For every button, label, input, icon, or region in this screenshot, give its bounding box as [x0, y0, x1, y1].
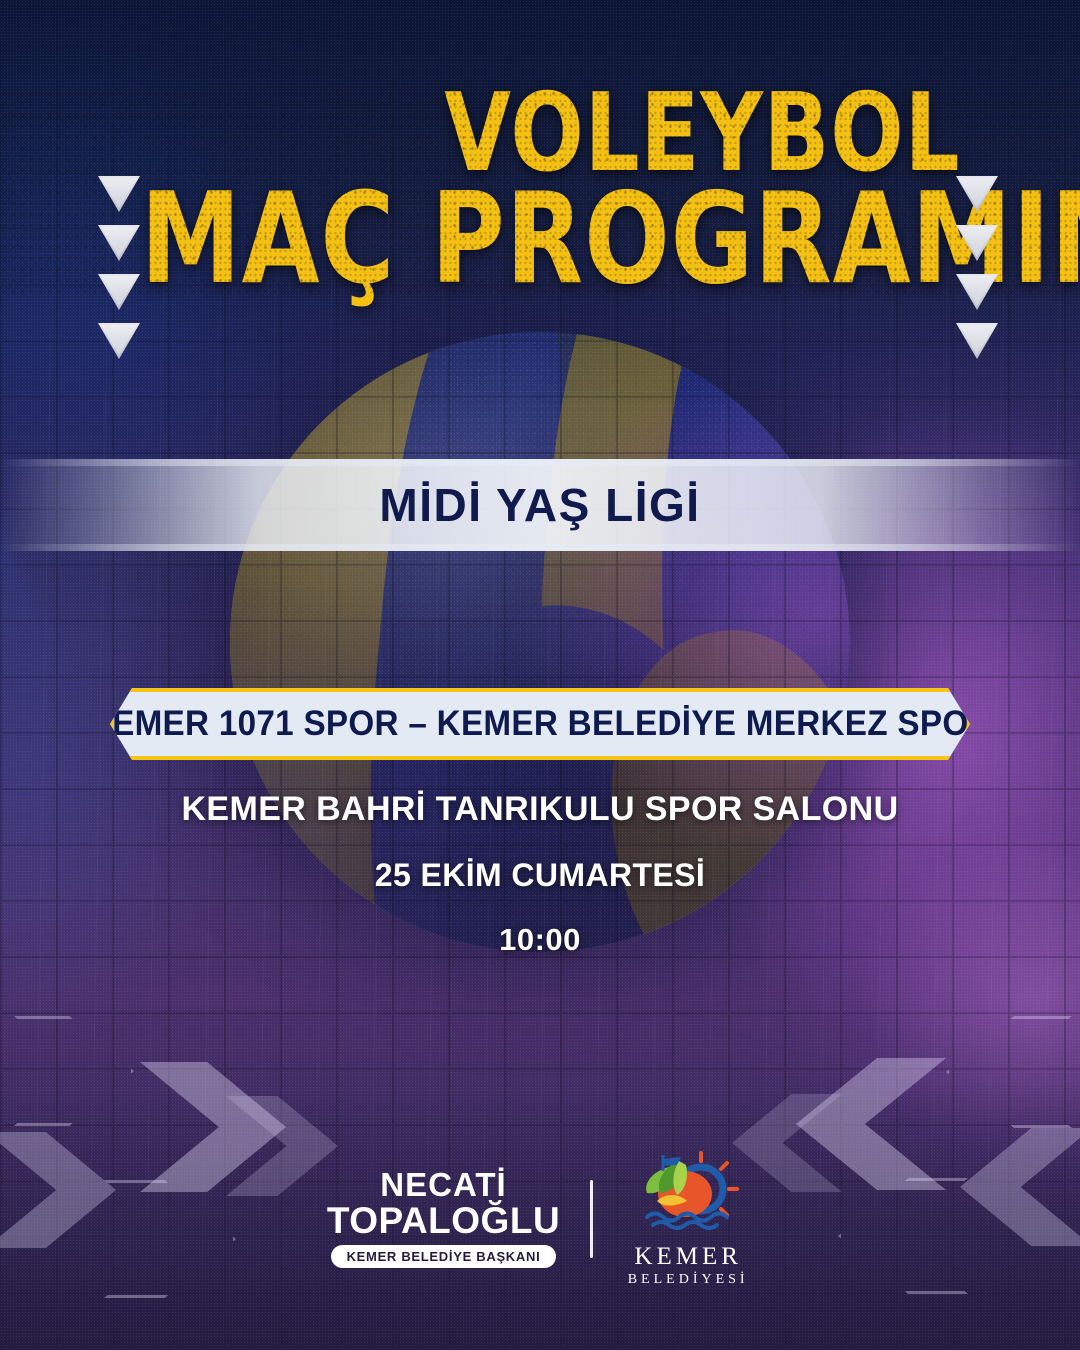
triangle-down-icon	[98, 225, 140, 261]
triangle-down-icon	[956, 274, 998, 310]
match-time: 10:00	[0, 922, 1080, 958]
municipality-name: KEMER BELEDİYESİ	[628, 1243, 749, 1288]
title-line-2: MAÇ PROGRAMIMIZ	[140, 185, 1080, 293]
league-name: MİDİ YAŞ LİGİ	[379, 478, 700, 532]
match-teams: KEMER 1071 SPOR – KEMER BELEDİYE MERKEZ …	[88, 704, 993, 744]
logo-divider	[590, 1180, 593, 1258]
municipality-emblem-icon	[623, 1149, 753, 1241]
mayor-title-badge: KEMER BELEDİYE BAŞKANI	[331, 1245, 557, 1268]
municipality-line-1: KEMER	[628, 1243, 749, 1271]
match-date: 25 EKİM CUMARTESİ	[0, 857, 1080, 894]
mayor-logo: NECATİ TOPALOĞLU KEMER BELEDİYE BAŞKANI	[327, 1169, 560, 1267]
triangle-down-icon	[956, 176, 998, 212]
mayor-first-name: NECATİ	[327, 1169, 560, 1200]
triangle-down-icon	[98, 176, 140, 212]
poster-title: VOLEYBOL MAÇ PROGRAMIMIZ	[0, 88, 1080, 293]
triangle-down-icon	[98, 274, 140, 310]
triangle-arrows-right	[956, 176, 998, 359]
triangle-down-icon	[98, 323, 140, 359]
match-banner: KEMER 1071 SPOR – KEMER BELEDİYE MERKEZ …	[110, 688, 970, 760]
match-venue: KEMER BAHRİ TANRIKULU SPOR SALONU	[0, 790, 1080, 829]
kemer-emblem-svg	[623, 1149, 753, 1241]
mayor-last-name: TOPALOĞLU	[327, 1203, 560, 1238]
triangle-down-icon	[956, 323, 998, 359]
league-banner: MİDİ YAŞ LİGİ	[0, 459, 1080, 551]
match-details: KEMER BAHRİ TANRIKULU SPOR SALONU 25 EKİ…	[0, 790, 1080, 958]
footer-logos: NECATİ TOPALOĞLU KEMER BELEDİYE BAŞKANI	[0, 1149, 1080, 1288]
match-banner-inner: KEMER 1071 SPOR – KEMER BELEDİYE MERKEZ …	[114, 692, 966, 756]
municipality-logo: KEMER BELEDİYESİ	[623, 1149, 753, 1288]
triangle-down-icon	[956, 225, 998, 261]
mayor-name: NECATİ TOPALOĞLU	[327, 1169, 560, 1237]
leaf-icon	[646, 1161, 687, 1195]
municipality-line-2: BELEDİYESİ	[628, 1272, 749, 1288]
triangle-arrows-left	[98, 176, 140, 359]
volleyball-match-poster: VOLEYBOL MAÇ PROGRAMIMIZ MİDİ YAŞ LİGİ K…	[0, 0, 1080, 1350]
